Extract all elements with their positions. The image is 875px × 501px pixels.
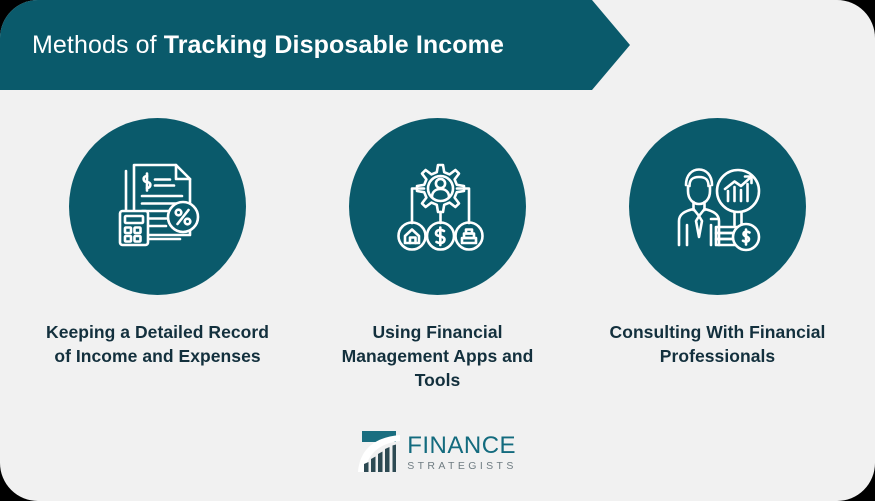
method-3-icon-circle [629, 118, 806, 295]
document-calculator-percent-icon [106, 155, 210, 259]
header-banner: Methods of Tracking Disposable Income [0, 0, 630, 90]
methods-row: Keeping a Detailed Record of Income and … [0, 118, 875, 392]
method-1-icon-circle [69, 118, 246, 295]
infographic-card: Methods of Tracking Disposable Income [0, 0, 875, 501]
page-title: Methods of Tracking Disposable Income [0, 31, 504, 60]
method-3-caption: Consulting With Financial Professionals [598, 320, 838, 368]
page-title-regular: Methods of [32, 31, 164, 59]
page-title-bold: Tracking Disposable Income [164, 31, 504, 59]
infographic-root: Methods of Tracking Disposable Income [0, 0, 875, 501]
brand-logo-inner: FINANCE STRATEGISTS [358, 428, 517, 477]
brand-logo: FINANCE STRATEGISTS [0, 428, 875, 477]
brand-logo-secondary: STRATEGISTS [407, 461, 517, 472]
method-1-caption: Keeping a Detailed Record of Income and … [38, 320, 278, 368]
brand-logo-text: FINANCE STRATEGISTS [407, 434, 517, 472]
finance-strategists-mark-icon [358, 428, 400, 477]
method-column-1: Keeping a Detailed Record of Income and … [18, 118, 298, 368]
gear-person-assets-icon [386, 155, 490, 259]
method-column-3: Consulting With Financial Professionals [578, 118, 858, 368]
advisor-chart-money-icon [666, 155, 770, 259]
method-2-icon-circle [349, 118, 526, 295]
method-column-2: Using Financial Management Apps and Tool… [298, 118, 578, 392]
method-2-caption: Using Financial Management Apps and Tool… [318, 320, 558, 392]
brand-logo-primary: FINANCE [407, 434, 517, 458]
